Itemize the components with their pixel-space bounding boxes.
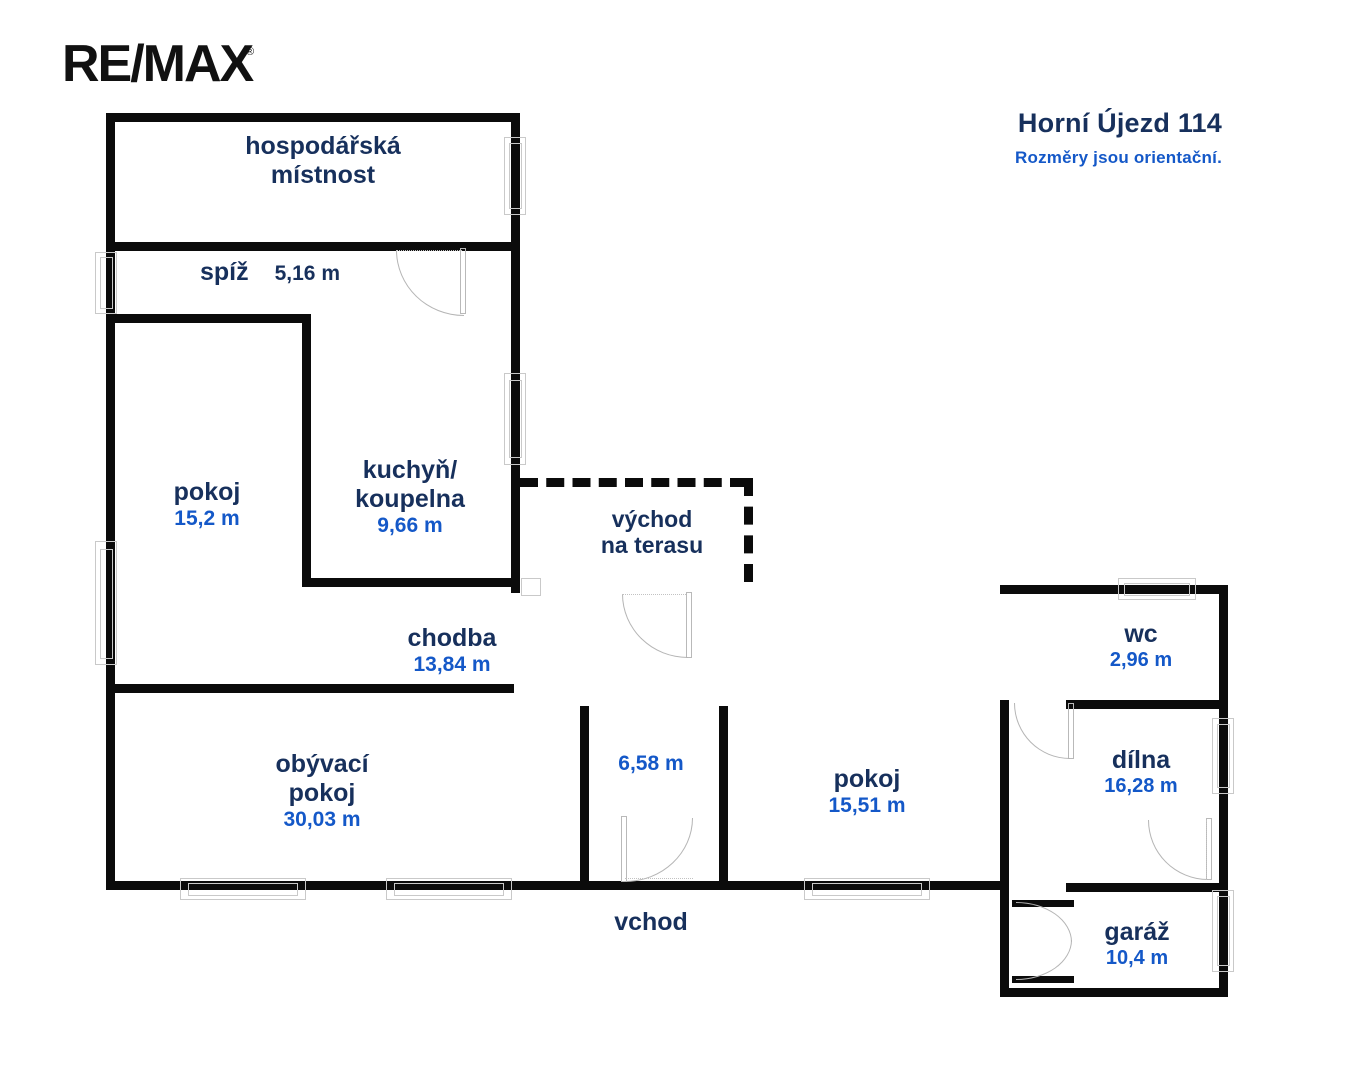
wall-hospodarska-top [106,113,520,122]
wall-pokoj1-right [302,314,311,586]
room-label-zadveri: 6,58 m [592,752,710,776]
room-area-pokoj-2: 15,51 m [778,794,956,818]
room-name-pokoj-2: pokoj [834,765,901,793]
room-name-wc: wc [1124,620,1157,648]
room-area-wc: 2,96 m [1076,649,1206,672]
window-wc-top-inner [1124,583,1190,596]
wall-kuchyn-bottom [302,578,514,587]
room-name-dilna: dílna [1112,746,1170,774]
room-label-hospodarska: hospodářská místnost [203,132,443,190]
room-area-garaz: 10,4 m [1062,947,1212,970]
wall-hospodarska-left [106,113,115,249]
door-terasa-threshold [622,594,686,595]
window-pokoj2-bottom-inner [812,883,922,896]
room-name-garaz: garáž [1104,918,1169,946]
room-name-vchod: vchod [614,908,688,936]
window-garaz-right-inner [1217,896,1230,966]
window-kuchyn-right-inner [509,380,522,458]
wall-dilna-bottom [1066,883,1224,892]
room-name-kuchyn-line2: koupelna [355,485,465,513]
room-name-hospodarska-line1: hospodářská [245,132,401,160]
door-spiz-threshold [396,250,462,251]
room-name-obyvaci-line2: pokoj [289,779,356,807]
room-name-kuchyn-line1: kuchyň/ [363,456,457,484]
window-pokoj1-left-inner [100,549,113,659]
room-label-spiz: spíž 5,16 m [170,258,370,287]
door-spiz-arc [396,250,464,316]
room-name-vychod-line2: na terasu [601,532,703,558]
window-hospodarska-right-inner [509,143,522,209]
room-label-vychod: východ na terasu [558,506,746,559]
door-vchod-threshold [625,878,693,879]
room-label-kuchyn: kuchyň/ koupelna 9,66 m [310,456,510,538]
window-dilna-right-inner [1217,724,1230,788]
room-name-chodba: chodba [408,624,497,652]
room-name-spiz: spíž [200,258,249,287]
room-label-pokoj-1: pokoj 15,2 m [118,478,296,531]
wall-chodba-bottom [106,684,514,693]
floor-plan: hospodářská místnost spíž 5,16 m pokoj 1… [0,0,1350,1080]
window-obyvaci-2-inner [394,883,504,896]
room-label-obyvaci: obývací pokoj 30,03 m [228,750,416,832]
window-kuchyn-bottom [521,578,541,596]
room-area-obyvaci: 30,03 m [228,808,416,832]
room-name-hospodarska-line2: místnost [271,161,375,189]
room-label-pokoj-2: pokoj 15,51 m [778,765,956,818]
window-obyvaci-1-inner [188,883,298,896]
door-dilna-threshold [1206,820,1207,880]
door-wc-arc [1014,703,1070,759]
door-vchod-arc [625,818,693,882]
room-label-chodba: chodba 13,84 m [358,624,546,677]
room-area-kuchyn: 9,66 m [310,514,510,538]
room-area-dilna: 16,28 m [1066,775,1216,798]
room-label-vchod: vchod [590,908,712,937]
room-label-dilna: dílna 16,28 m [1066,746,1216,798]
room-label-garaz: garáž 10,4 m [1062,918,1212,970]
terrace-outline-top [520,478,748,487]
door-terasa-arc [622,594,688,658]
wall-right-wing-left [1000,700,1009,997]
wall-wc-bottom [1066,700,1224,709]
wall-spiz-bottom [106,314,310,323]
room-label-wc: wc 2,96 m [1076,620,1206,672]
wall-zadveri-right [719,706,728,886]
room-name-pokoj-1: pokoj [174,478,241,506]
room-area-zadveri: 6,58 m [592,752,710,776]
room-name-obyvaci-line1: obývací [275,750,368,778]
room-area-pokoj-1: 15,2 m [118,507,296,531]
window-spiz-left-inner [100,257,113,309]
room-name-vychod-line1: východ [612,506,693,532]
room-area-spiz: 5,16 m [275,262,340,286]
door-dilna-arc [1148,820,1208,880]
wall-garaz-bottom [1000,988,1228,997]
room-area-chodba: 13,84 m [358,653,546,677]
wall-zadveri-left [580,706,589,886]
